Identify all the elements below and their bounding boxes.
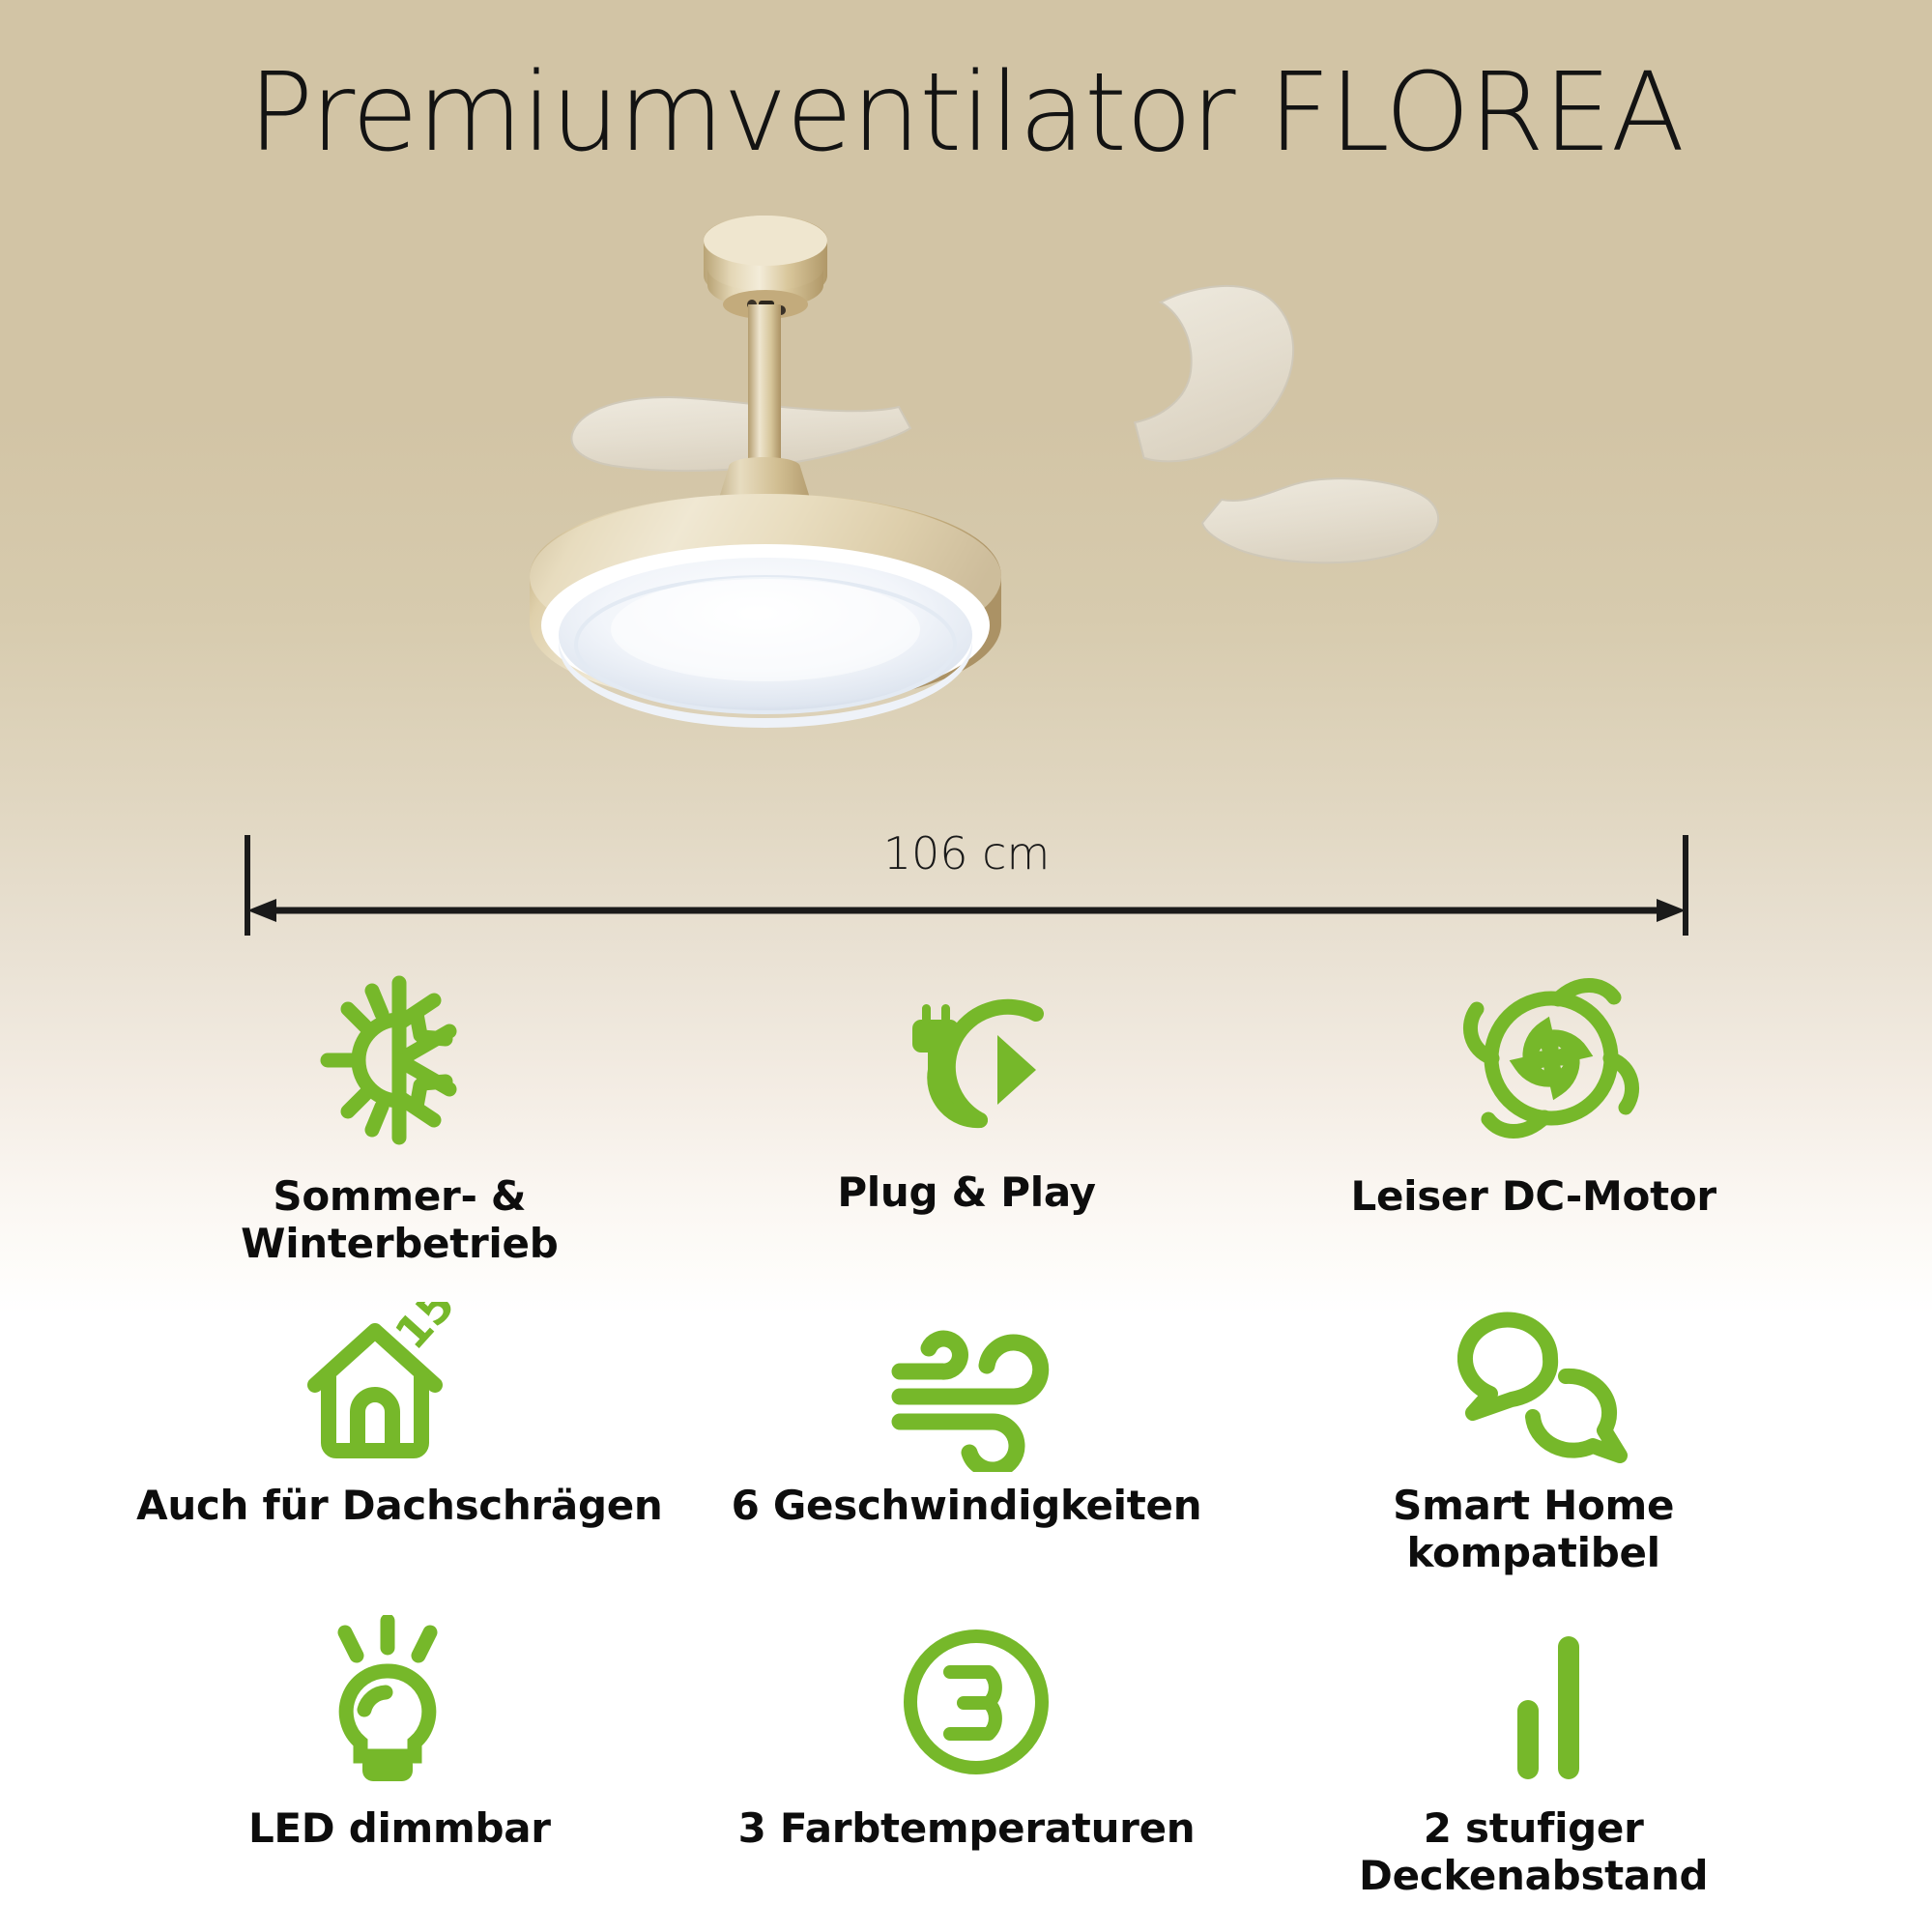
feature-item: 3 Farbtemperaturen [683,1595,1251,1904]
feature-label: Sommer- & Winterbetrieb [129,1173,670,1267]
dimension-label: 106 cm [242,827,1691,879]
feature-item: 2 stufiger Deckenabstand [1250,1595,1817,1904]
feature-label: 3 Farbtemperaturen [738,1805,1196,1853]
house-angle-icon: 15° [302,1295,481,1479]
feature-label: LED dimmbar [248,1805,551,1853]
infographic-page: Premiumventilator FLOREA [0,0,1932,1932]
feature-label: Smart Home kompatibel [1393,1483,1674,1576]
feature-label: Leiser DC-Motor [1350,1173,1716,1221]
feature-item: LED dimmbar [116,1595,683,1904]
feature-label: 2 stufiger Deckenabstand [1250,1805,1817,1899]
feature-item: Plug & Play [683,976,1251,1285]
fan-blade-right-upper [1133,280,1298,470]
page-title: Premiumventilator FLOREA [0,50,1932,176]
dimension-measure: 106 cm [242,831,1691,957]
feature-item: Smart Home kompatibel [1250,1285,1817,1595]
plug-play-icon [891,978,1061,1162]
speech-bubbles-icon [1457,1293,1637,1477]
feature-item: Sommer- & Winterbetrieb [116,976,683,1285]
wind-icon [886,1303,1066,1486]
ceiling-fan-illustration [319,208,1614,778]
sun-snowflake-icon [314,968,484,1152]
feature-label: Auch für Dachschrägen [136,1483,662,1530]
circle-three-icon [896,1610,1056,1794]
product-image [319,208,1614,778]
lightbulb-icon [310,1608,465,1792]
fan-blade-right-lower [1202,478,1438,562]
feature-item: 6 Geschwindigkeiten [683,1285,1251,1595]
feature-item: 15° Auch für Dachschrägen [116,1285,683,1595]
fan-rotor-icon [1461,966,1641,1150]
feature-label: Plug & Play [837,1169,1095,1217]
circle-three-badge [950,1672,995,1734]
fan-downrod [748,304,781,467]
feature-grid: Sommer- & Winterbetrieb Plug & Play [116,976,1817,1904]
two-bars-icon [1498,1608,1624,1792]
feature-label: 6 Geschwindigkeiten [732,1483,1202,1530]
feature-item: Leiser DC-Motor [1250,976,1817,1285]
